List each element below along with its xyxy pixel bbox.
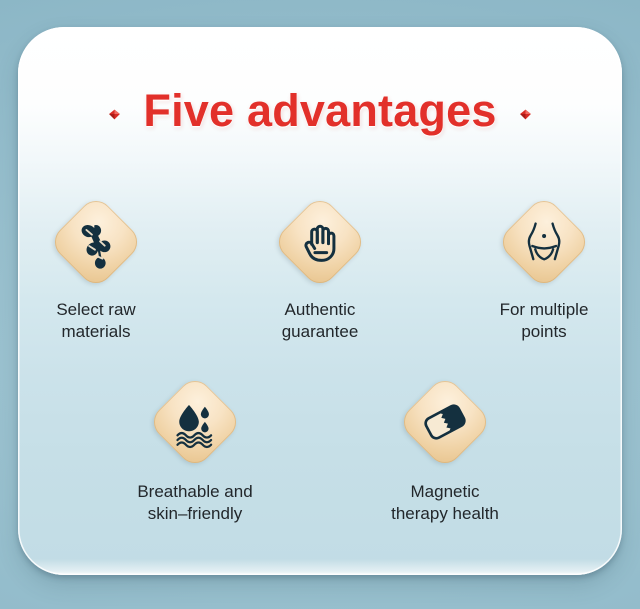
magnetic-patch-icon [417, 394, 473, 450]
feature-caption: For multiple points [500, 299, 589, 343]
page-title: Five advantages [143, 85, 496, 137]
red-diamond-gem-icon [108, 108, 121, 121]
feature-caption: Breathable and skin–friendly [137, 481, 252, 525]
promo-banner: Five advantages [0, 0, 640, 609]
feature-card: Five advantages [18, 27, 622, 575]
feature-caption: Authentic guarantee [282, 299, 359, 343]
badge [275, 197, 365, 287]
abdomen-waist-icon [516, 214, 572, 270]
red-diamond-gem-icon [519, 108, 532, 121]
feature-caption: Magnetic therapy health [391, 481, 499, 525]
badge [400, 377, 490, 467]
feature-caption: Select raw materials [56, 299, 135, 343]
feature-row-top: Select raw materials [18, 197, 622, 343]
title-row: Five advantages [18, 85, 622, 137]
feature-row-bottom: Breathable and skin–friendly Magnetic th… [18, 377, 622, 525]
feature-item[interactable]: Authentic guarantee [245, 197, 395, 343]
badge [51, 197, 141, 287]
ginger-root-icon [68, 214, 124, 270]
badge [499, 197, 589, 287]
open-hand-palm-icon [292, 214, 348, 270]
feature-item[interactable]: Breathable and skin–friendly [120, 377, 270, 525]
badge [150, 377, 240, 467]
feature-item[interactable]: Magnetic therapy health [370, 377, 520, 525]
feature-item[interactable]: For multiple points [469, 197, 619, 343]
feature-item[interactable]: Select raw materials [21, 197, 171, 343]
water-droplets-waves-icon [167, 394, 223, 450]
